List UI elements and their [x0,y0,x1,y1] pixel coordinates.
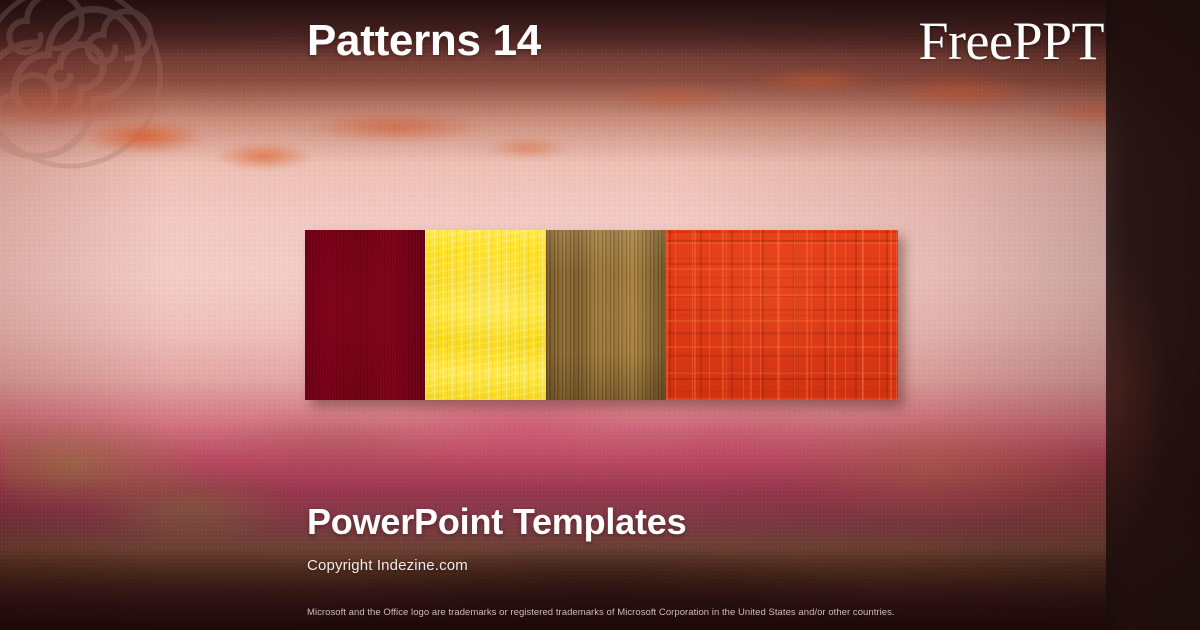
freeppt-logo[interactable]: FreePPT [919,14,1105,68]
swatch-deep-maroon[interactable] [305,230,425,400]
page-title: Patterns 14 [307,16,541,65]
swatch-orange-red[interactable] [666,230,898,400]
swatch-wood-brown[interactable] [546,230,666,400]
url-sidebar: freeppttemplates.com/freeppttemplates/ca… [1106,0,1200,630]
swatch-bright-yellow[interactable] [425,230,546,400]
trademark-disclaimer: Microsoft and the Office logo are tradem… [307,607,895,618]
footer-title: PowerPoint Templates [307,502,686,542]
pattern-preview-strip[interactable] [305,230,898,400]
slide-canvas: Patterns 14 FreePPT PowerPoint Templates… [0,0,1200,630]
copyright-text: Copyright Indezine.com [307,557,468,574]
